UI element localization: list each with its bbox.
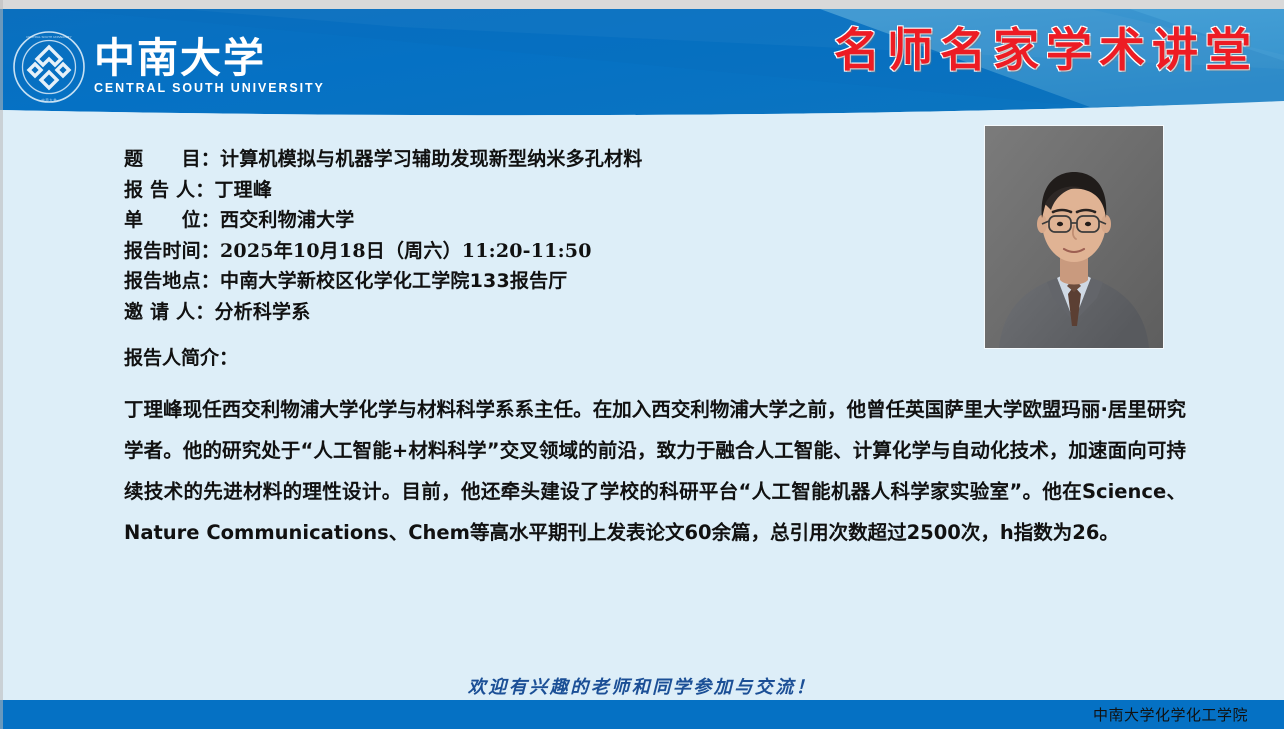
lecture-announcement-slide: CENTRAL SOUTH UNIVERSITY 中 南 大 学 中南大学 CE… [0, 0, 1284, 729]
university-name: 中南大学 CENTRAL SOUTH UNIVERSITY [94, 36, 325, 98]
info-row-label: 题 目： [124, 148, 220, 170]
info-row-label: 单 位： [124, 209, 220, 231]
page-top-gutter [0, 0, 1284, 9]
footer-bar: 中南大学化学化工学院 [0, 700, 1284, 729]
info-row-value: 分析科学系 [214, 301, 310, 323]
info-row: 报告时间：2025年10月18日（周六）11:20-11:50 [124, 236, 924, 267]
info-row: 邀 请 人：分析科学系 [124, 297, 924, 328]
bio-label: 报告人简介： [124, 345, 238, 371]
info-row: 报 告 人：丁理峰 [124, 175, 924, 206]
info-row-value: 丁理峰 [214, 179, 272, 201]
info-row: 单 位：西交利物浦大学 [124, 205, 924, 236]
svg-text:CENTRAL SOUTH UNIVERSITY: CENTRAL SOUTH UNIVERSITY [26, 35, 71, 39]
bio-text: 丁理峰现任西交利物浦大学化学与材料科学系系主任。在加入西交利物浦大学之前，他曾任… [124, 389, 1186, 553]
lecture-info-block: 题 目：计算机模拟与机器学习辅助发现新型纳米多孔材料报 告 人：丁理峰单 位：西… [124, 144, 924, 327]
welcome-note: 欢迎有兴趣的老师和同学参加与交流！ [0, 673, 1284, 699]
info-row-label: 报 告 人： [124, 179, 214, 201]
header-banner: CENTRAL SOUTH UNIVERSITY 中 南 大 学 中南大学 CE… [0, 9, 1284, 124]
info-row-value: 西交利物浦大学 [220, 209, 354, 231]
svg-text:中 南 大 学: 中 南 大 学 [42, 97, 57, 102]
welcome-text: 欢迎有兴趣的老师和同学参加与交流！ [468, 677, 817, 698]
info-row: 报告地点：中南大学新校区化学化工学院133报告厅 [124, 266, 924, 297]
university-name-cn: 中南大学 [94, 36, 325, 80]
info-row-value: 2025年10月18日（周六）11:20-11:50 [220, 240, 592, 262]
banner-title: 名师名家学术讲堂 [834, 22, 1258, 78]
info-row-label: 邀 请 人： [124, 301, 214, 323]
csu-emblem-icon: CENTRAL SOUTH UNIVERSITY 中 南 大 学 [12, 30, 86, 104]
page-left-gutter [0, 0, 3, 729]
info-row-value: 中南大学新校区化学化工学院133报告厅 [220, 270, 567, 292]
footer-organization: 中南大学化学化工学院 [1093, 704, 1248, 726]
info-row-label: 报告时间： [124, 240, 220, 262]
info-row-label: 报告地点： [124, 270, 220, 292]
info-row-value: 计算机模拟与机器学习辅助发现新型纳米多孔材料 [220, 148, 642, 170]
university-name-en: CENTRAL SOUTH UNIVERSITY [94, 81, 325, 96]
info-row: 题 目：计算机模拟与机器学习辅助发现新型纳米多孔材料 [124, 144, 924, 175]
university-logo: CENTRAL SOUTH UNIVERSITY 中 南 大 学 中南大学 CE… [12, 26, 272, 108]
speaker-portrait [985, 126, 1163, 348]
